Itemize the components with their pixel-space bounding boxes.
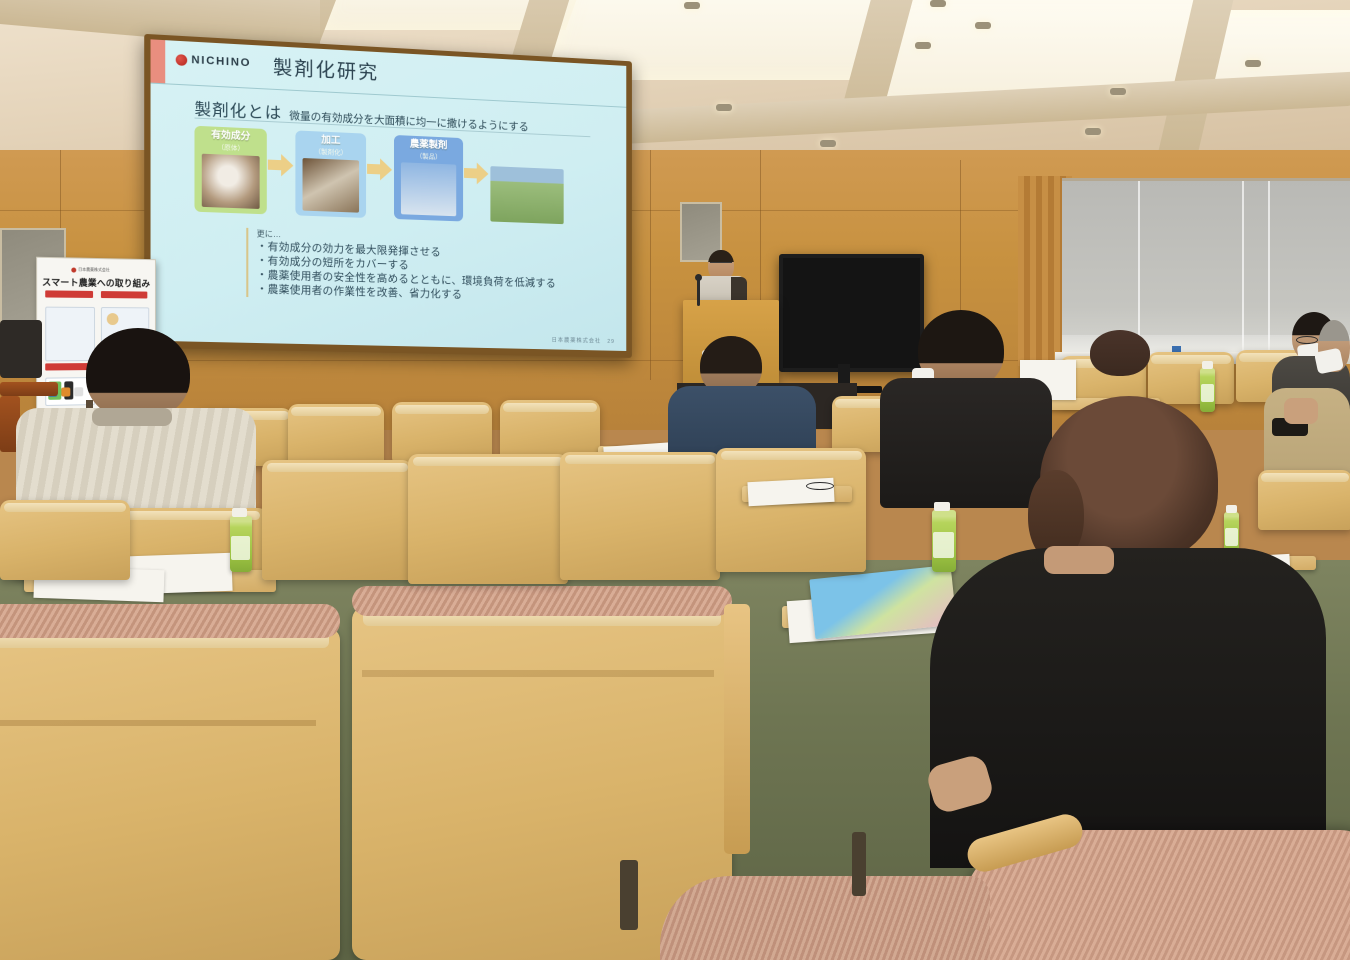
slide-footer: 日本農薬株式会社 29 xyxy=(552,336,615,345)
flat-panel-display[interactable] xyxy=(779,254,924,372)
attendee-neck xyxy=(1044,546,1114,574)
projection-screen: NICHINO 製剤化研究 製剤化とは 微量の有効成分を大面積に均一に撒けるよう… xyxy=(144,34,632,358)
reading-glasses[interactable] xyxy=(806,482,834,490)
seat[interactable] xyxy=(716,448,866,572)
seminar-room-photo: NICHINO 製剤化研究 製剤化とは 微量の有効成分を大面積に均一に撒けるよう… xyxy=(0,0,1350,960)
seat[interactable] xyxy=(0,628,340,960)
tea-bottle[interactable] xyxy=(932,510,956,572)
arrow-right-icon xyxy=(367,156,393,183)
seat[interactable] xyxy=(392,402,492,462)
nichino-circle-icon xyxy=(71,267,76,272)
microphone-stand xyxy=(697,278,700,306)
poster-title: スマート農業への取り組み xyxy=(37,275,155,290)
seat[interactable] xyxy=(500,400,600,458)
seat[interactable] xyxy=(1258,470,1350,530)
flow-step-field xyxy=(490,163,563,224)
flow-step-active-ingredient: 有効成分 （原体） xyxy=(194,126,266,215)
flow-step-processing: 加工 （製剤化） xyxy=(295,130,366,218)
seat[interactable] xyxy=(262,460,412,580)
seat[interactable] xyxy=(288,404,384,464)
flow-step-sublabel: （製品） xyxy=(396,149,461,162)
seat[interactable] xyxy=(1148,352,1234,404)
poster-company-line: 日本農薬株式会社 xyxy=(78,267,109,274)
arrow-right-icon xyxy=(464,160,489,187)
slide-bullet-list: 更に… ・有効成分の効力を最大限発揮させる ・有効成分の短所をカバーする ・農薬… xyxy=(246,228,556,305)
process-flow-diagram: 有効成分 （原体） 加工 （製剤化） 農薬製剤 （製品） xyxy=(194,126,563,225)
attendee-head xyxy=(1090,330,1150,376)
slide-accent-bar xyxy=(151,39,166,83)
tea-bottle[interactable] xyxy=(230,516,252,572)
attendee-body xyxy=(880,378,1052,508)
seat-fabric xyxy=(0,604,340,638)
poster-figure xyxy=(45,307,95,362)
flow-step-sublabel: （原体） xyxy=(197,140,265,153)
eyeglasses-icon xyxy=(710,262,732,268)
pesticide-bottle-photo xyxy=(401,162,456,216)
attendee-head xyxy=(86,328,190,420)
flow-step-formulation: 農薬製剤 （製品） xyxy=(394,135,463,221)
attendee-body xyxy=(930,548,1326,868)
slide-subtitle-note: 微量の有効成分を大面積に均一に撒けるようにする xyxy=(289,108,528,134)
seat[interactable] xyxy=(408,454,568,584)
tractor-field-photo xyxy=(490,166,563,224)
spoon-powder-photo xyxy=(202,154,260,209)
presentation-slide: NICHINO 製剤化研究 製剤化とは 微量の有効成分を大面積に均一に撒けるよう… xyxy=(151,39,627,351)
bag xyxy=(0,320,42,378)
slide-title: 製剤化研究 xyxy=(273,52,379,85)
poster-logo: 日本農薬株式会社 xyxy=(71,267,109,274)
seat-leg xyxy=(852,832,866,896)
attendee-hand xyxy=(1284,398,1318,424)
tea-bottle[interactable] xyxy=(1200,368,1215,412)
armrest xyxy=(724,604,750,854)
arrow-right-icon xyxy=(268,151,295,178)
seat-leg xyxy=(620,860,638,930)
granule-processing-photo xyxy=(303,158,360,213)
nichino-circle-icon xyxy=(176,54,187,66)
microphone-icon xyxy=(695,274,702,281)
seat-fabric xyxy=(660,876,990,960)
seat[interactable] xyxy=(0,500,130,580)
flow-step-sublabel: （製剤化） xyxy=(297,145,364,158)
side-chair xyxy=(0,382,58,396)
seat[interactable] xyxy=(560,452,720,580)
attendee-collar xyxy=(92,408,172,426)
seat-fabric xyxy=(352,586,732,616)
